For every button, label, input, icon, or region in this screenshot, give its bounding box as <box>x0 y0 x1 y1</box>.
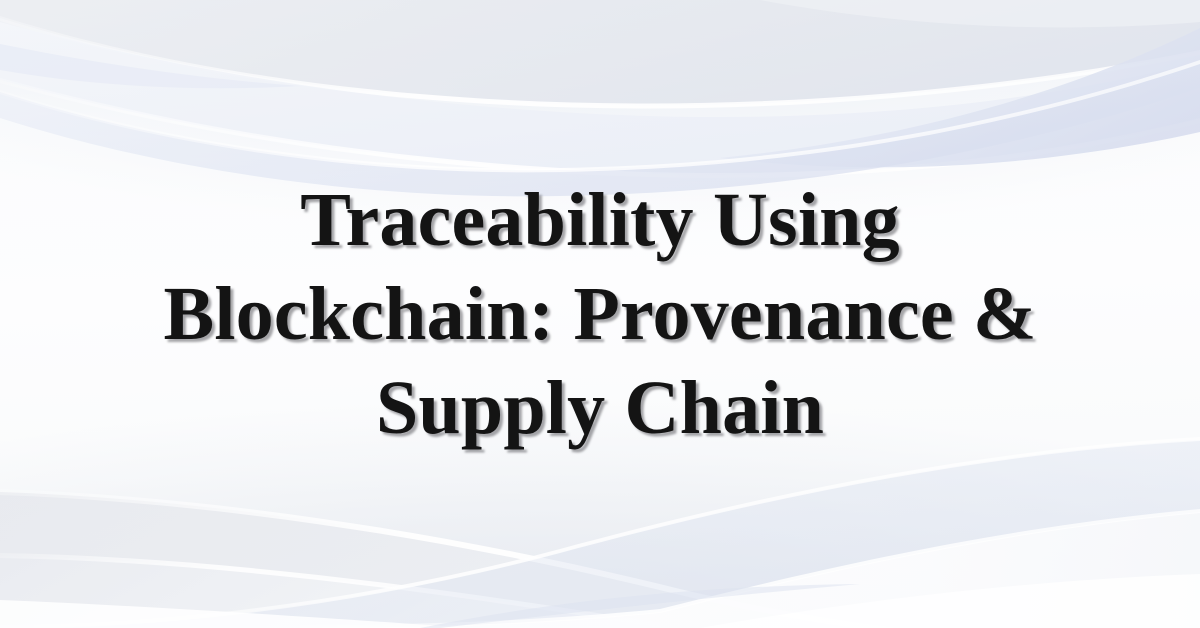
title-card: Traceability Using Blockchain: Provenanc… <box>0 0 1200 628</box>
title-container: Traceability Using Blockchain: Provenanc… <box>0 0 1200 628</box>
page-title: Traceability Using Blockchain: Provenanc… <box>100 173 1100 455</box>
